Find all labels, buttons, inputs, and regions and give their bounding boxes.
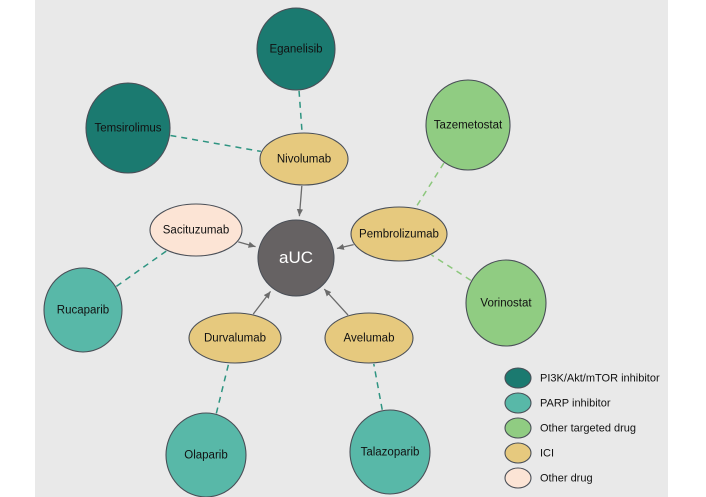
node-sacituzumab[interactable]: Sacituzumab [150, 204, 242, 256]
edge-vorinostat-to-pembrolizumab [431, 255, 470, 280]
edge-olaparib-to-durvalumab [216, 364, 228, 414]
edge-talazoparib-to-avelumab [374, 364, 382, 410]
node-shape-eganelisib[interactable] [257, 8, 335, 90]
legend-swatch-other_targeted [505, 418, 531, 438]
node-shape-vorinostat[interactable] [466, 260, 546, 346]
node-avelumab[interactable]: Avelumab [325, 313, 413, 363]
legend-label-other_targeted: Other targeted drug [540, 422, 636, 434]
legend-item-pi3k_akt_mtor[interactable]: PI3K/Akt/mTOR inhibitor [505, 368, 660, 388]
node-talazoparib[interactable]: Talazoparib [350, 410, 430, 494]
node-rucaparib[interactable]: Rucaparib [44, 268, 122, 352]
node-pembrolizumab[interactable]: Pembrolizumab [351, 207, 447, 261]
node-shape-sacituzumab[interactable] [150, 204, 242, 256]
edge-temsirolimus-to-nivolumab [170, 135, 260, 151]
node-eganelisib[interactable]: Eganelisib [257, 8, 335, 90]
legend-label-other_drug: Other drug [540, 472, 593, 484]
edge-eganelisib-to-nivolumab [299, 91, 302, 132]
legend: PI3K/Akt/mTOR inhibitorPARP inhibitor Ot… [505, 368, 660, 488]
legend-label-ici: ICI [540, 447, 554, 459]
legend-swatch-pi3k_akt_mtor [505, 368, 531, 388]
node-temsirolimus[interactable]: Temsirolimus [86, 83, 170, 173]
node-olaparib[interactable]: Olaparib [166, 413, 246, 497]
edge-pembrolizumab-to-auc [337, 245, 354, 249]
edge-tazemetostat-to-pembrolizumab [416, 163, 444, 208]
legend-item-other_drug[interactable]: Other drug [505, 468, 593, 488]
node-shape-durvalumab[interactable] [189, 313, 281, 363]
node-auc[interactable]: aUC [258, 220, 334, 296]
node-shape-tazemetostat[interactable] [426, 80, 510, 170]
node-shape-nivolumab[interactable] [260, 133, 348, 185]
legend-label-parp: PARP inhibitor [540, 397, 611, 409]
node-shape-temsirolimus[interactable] [86, 83, 170, 173]
edge-nivolumab-to-auc [299, 186, 301, 216]
legend-item-ici[interactable]: ICI [505, 443, 554, 463]
node-shape-talazoparib[interactable] [350, 410, 430, 494]
legend-swatch-ici [505, 443, 531, 463]
node-nivolumab[interactable]: Nivolumab [260, 133, 348, 185]
legend-item-other_targeted[interactable]: Other targeted drug [505, 418, 636, 438]
network-diagram-figure: aUCEganelisibTemsirolimusNivolumabTazeme… [0, 0, 706, 497]
edge-rucaparib-to-sacituzumab [116, 251, 166, 286]
legend-swatch-parp [505, 393, 531, 413]
network-graph: aUCEganelisibTemsirolimusNivolumabTazeme… [0, 0, 706, 497]
node-durvalumab[interactable]: Durvalumab [189, 313, 281, 363]
node-shape-avelumab[interactable] [325, 313, 413, 363]
node-layer: aUCEganelisibTemsirolimusNivolumabTazeme… [44, 8, 546, 497]
edge-sacituzumab-to-auc [238, 242, 255, 247]
legend-swatch-other_drug [505, 468, 531, 488]
node-shape-pembrolizumab[interactable] [351, 207, 447, 261]
node-vorinostat[interactable]: Vorinostat [466, 260, 546, 346]
edge-avelumab-to-auc [324, 289, 348, 315]
node-tazemetostat[interactable]: Tazemetostat [426, 80, 510, 170]
node-shape-auc[interactable] [258, 220, 334, 296]
node-shape-olaparib[interactable] [166, 413, 246, 497]
legend-label-pi3k_akt_mtor: PI3K/Akt/mTOR inhibitor [540, 372, 660, 384]
edge-durvalumab-to-auc [253, 291, 270, 314]
node-shape-rucaparib[interactable] [44, 268, 122, 352]
legend-item-parp[interactable]: PARP inhibitor [505, 393, 611, 413]
